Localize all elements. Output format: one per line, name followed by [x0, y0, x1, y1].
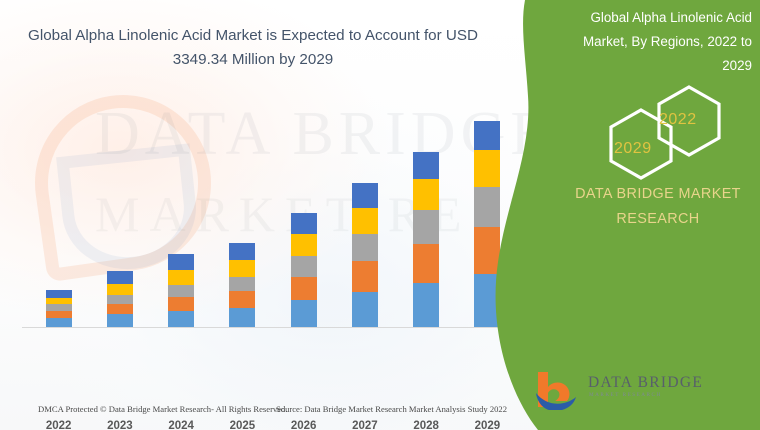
bar-segment-2028-middle-east-and-africa[interactable] — [413, 152, 439, 180]
bar-segment-2025-europe[interactable] — [229, 291, 255, 308]
bar-segment-2022-middle-east-and-africa[interactable] — [46, 290, 72, 297]
bar-2023[interactable] — [107, 271, 133, 327]
bar-segment-2026-south-america[interactable] — [291, 234, 317, 255]
hexagon-label-2022: 2022 — [659, 111, 697, 129]
x-axis-line — [22, 327, 512, 328]
logo-wordmark: DATA BRIDGE — [588, 374, 703, 392]
bar-2025[interactable] — [229, 243, 255, 327]
bar-segment-2024-europe[interactable] — [168, 297, 194, 311]
bar-segment-2025-asia-pacific[interactable] — [229, 277, 255, 292]
bar-segment-2027-europe[interactable] — [352, 261, 378, 292]
bar-segment-2023-middle-east-and-africa[interactable] — [107, 271, 133, 284]
bar-segment-2023-europe[interactable] — [107, 304, 133, 314]
panel-brand-line-1: DATA BRIDGE MARKET — [560, 182, 756, 207]
bar-2022[interactable] — [46, 290, 72, 327]
panel-brand-line-2: RESEARCH — [560, 207, 756, 232]
hexagon-group: 2022 2029 — [586, 84, 746, 180]
bar-segment-2023-asia-pacific[interactable] — [107, 295, 133, 304]
bar-segment-2022-north-america[interactable] — [46, 318, 72, 327]
infographic-root: DATA BRIDGE MARKET RESEARCH Global Alpha… — [0, 0, 760, 430]
bar-segment-2028-asia-pacific[interactable] — [413, 210, 439, 244]
data-bridge-mark-icon — [534, 370, 586, 410]
bar-segment-2024-south-america[interactable] — [168, 270, 194, 285]
bar-2026[interactable] — [291, 213, 317, 327]
chart-plot-area — [22, 86, 512, 328]
bar-segment-2022-europe[interactable] — [46, 311, 72, 318]
bar-segment-2028-north-america[interactable] — [413, 283, 439, 327]
bar-segment-2025-middle-east-and-africa[interactable] — [229, 243, 255, 260]
bar-segment-2024-asia-pacific[interactable] — [168, 285, 194, 297]
bar-segment-2023-south-america[interactable] — [107, 284, 133, 295]
bar-segment-2027-south-america[interactable] — [352, 208, 378, 234]
bar-segment-2024-middle-east-and-africa[interactable] — [168, 254, 194, 271]
bar-segment-2026-europe[interactable] — [291, 277, 317, 301]
bar-segment-2027-north-america[interactable] — [352, 292, 378, 327]
bar-segment-2025-south-america[interactable] — [229, 260, 255, 277]
footer: DMCA Protected © Data Bridge Market Rese… — [0, 404, 520, 424]
stacked-bar-chart: 20222023202420252026202720282029 North A… — [22, 86, 512, 332]
bar-segment-2026-north-america[interactable] — [291, 300, 317, 327]
logo-tagline: MARKET RESEARCH — [589, 392, 662, 398]
panel-title: Global Alpha Linolenic Acid Market, By R… — [556, 6, 752, 78]
bar-segment-2023-north-america[interactable] — [107, 314, 133, 327]
bar-segment-2027-asia-pacific[interactable] — [352, 234, 378, 262]
bar-segment-2024-north-america[interactable] — [168, 311, 194, 328]
footer-copyright: DMCA Protected © Data Bridge Market Rese… — [38, 404, 288, 414]
data-bridge-logo: DATA BRIDGE MARKET RESEARCH — [534, 370, 714, 412]
panel-brand: DATA BRIDGE MARKET RESEARCH — [560, 182, 756, 232]
bar-2028[interactable] — [413, 152, 439, 327]
bar-2027[interactable] — [352, 183, 378, 327]
hexagon-label-2029: 2029 — [614, 140, 652, 158]
bar-segment-2026-asia-pacific[interactable] — [291, 256, 317, 277]
hexagon-outlines-icon — [586, 84, 746, 180]
bar-segment-2025-north-america[interactable] — [229, 308, 255, 327]
bar-2024[interactable] — [168, 254, 194, 327]
bar-segment-2027-middle-east-and-africa[interactable] — [352, 183, 378, 208]
bar-segment-2028-europe[interactable] — [413, 244, 439, 283]
bar-segment-2026-middle-east-and-africa[interactable] — [291, 213, 317, 234]
page-title: Global Alpha Linolenic Acid Market is Ex… — [18, 24, 488, 72]
bar-segment-2028-south-america[interactable] — [413, 179, 439, 209]
